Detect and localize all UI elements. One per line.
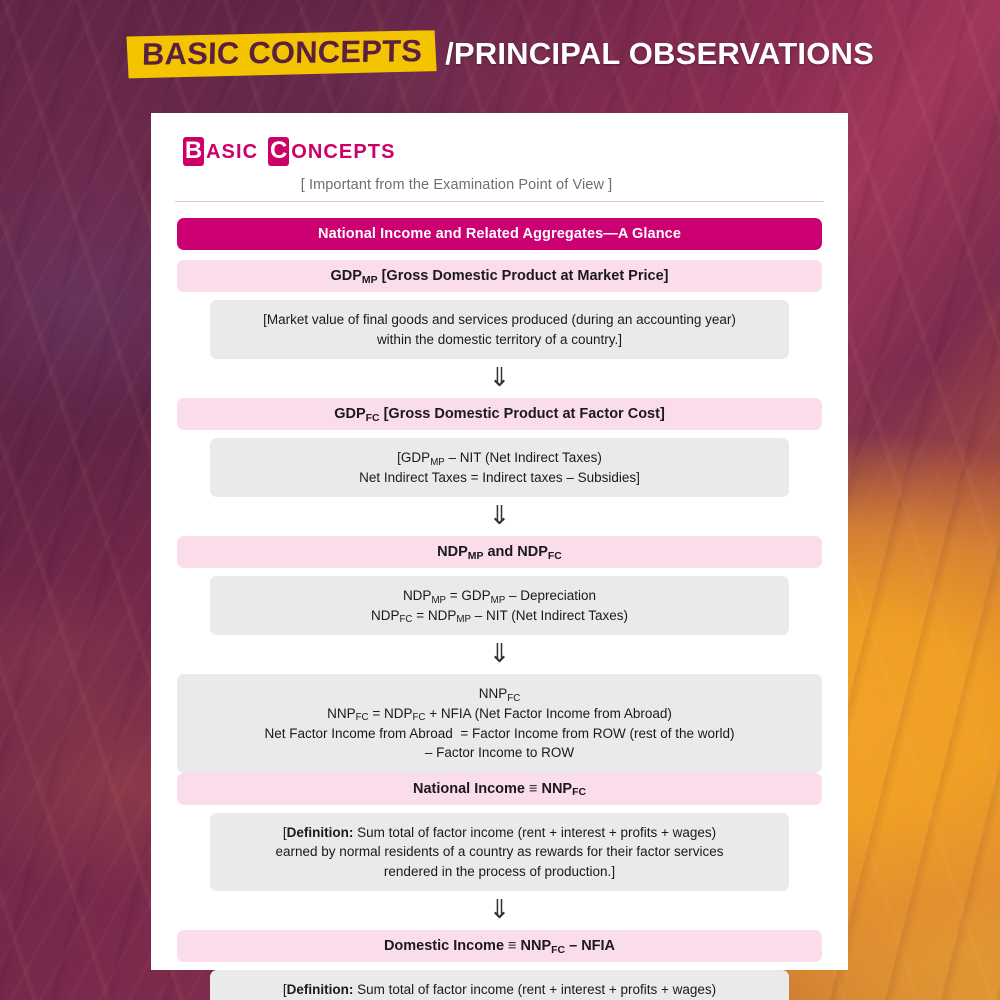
flow-arrow-down-icon: ⇓: [177, 891, 822, 930]
content-card: B ASIC C ONCEPTS [ Important from the Ex…: [151, 113, 848, 970]
flow-step-body: [GDPMP – NIT (Net Indirect Taxes)Net Ind…: [210, 438, 789, 497]
card-title: B ASIC C ONCEPTS: [183, 137, 824, 171]
flow-step-body: [Definition: Sum total of factor income …: [210, 813, 789, 892]
flow-step-label: National Income ≡ NNPFC: [177, 773, 822, 805]
flow-arrow-down-icon: ⇓: [177, 497, 822, 536]
flow-step-body: [Market value of final goods and service…: [210, 300, 789, 359]
title-word-basic: ASIC: [204, 141, 268, 164]
flow-steps-container: GDPMP [Gross Domestic Product at Market …: [177, 260, 822, 1000]
banner-subtitle-title: /PRINCIPAL OBSERVATIONS: [445, 38, 874, 71]
flow-header-bar: National Income and Related Aggregates—A…: [177, 218, 822, 250]
flow-step-label: NDPMP and NDPFC: [177, 536, 822, 568]
flow-step-body: NDPMP = GDPMP – DepreciationNDPFC = NDPM…: [210, 576, 789, 635]
title-divider: [175, 201, 824, 202]
flow-arrow-down-icon: ⇓: [177, 635, 822, 674]
banner-highlight-title: BASIC CONCEPTS: [125, 30, 437, 78]
flow-step-label: GDPMP [Gross Domestic Product at Market …: [177, 260, 822, 292]
flow-step-body: NNPFCNNPFC = NDPFC + NFIA (Net Factor In…: [177, 674, 822, 772]
dropcap-b: B: [183, 137, 204, 166]
flow-step-body: [Definition: Sum total of factor income …: [210, 970, 789, 1000]
flow-diagram: National Income and Related Aggregates—A…: [175, 218, 824, 1000]
dropcap-c: C: [268, 137, 289, 166]
title-word-concepts: ONCEPTS: [289, 141, 405, 164]
card-subtitle: [ Important from the Examination Point o…: [175, 177, 824, 193]
page-banner: BASIC CONCEPTS /PRINCIPAL OBSERVATIONS: [0, 26, 1000, 82]
page-root: BASIC CONCEPTS /PRINCIPAL OBSERVATIONS B…: [0, 0, 1000, 1000]
flow-step-label: Domestic Income ≡ NNPFC – NFIA: [177, 930, 822, 962]
flow-step-label: GDPFC [Gross Domestic Product at Factor …: [177, 398, 822, 430]
flow-arrow-down-icon: ⇓: [177, 359, 822, 398]
